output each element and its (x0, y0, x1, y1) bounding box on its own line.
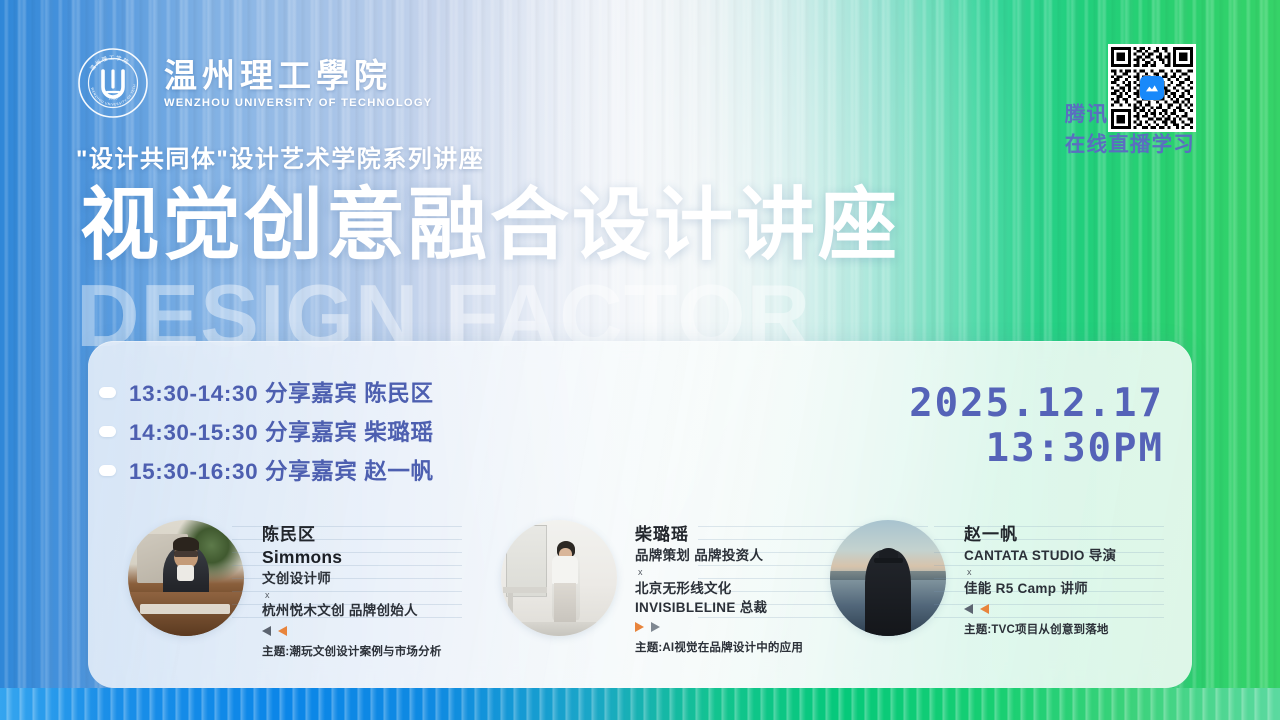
speaker-markers (964, 602, 1179, 616)
university-name-en: WENZHOU UNIVERSITY OF TECHNOLOGY (164, 97, 433, 109)
speaker-connector: x (967, 565, 1179, 579)
pill-bullet-icon (99, 387, 116, 398)
speaker-role: 文创设计师 (262, 569, 472, 589)
speaker-org: 佳能 R5 Camp 讲师 (964, 580, 1179, 599)
tencent-meeting-icon (1140, 76, 1164, 100)
pill-bullet-icon (99, 465, 116, 476)
schedule-row-text: 13:30-14:30 分享嘉宾 陈民区 (129, 376, 434, 408)
list-item[interactable]: 14:30-15:30 分享嘉宾 柴璐瑶 (99, 413, 434, 449)
pill-bullet-icon (99, 426, 116, 437)
university-branding: 1980 温州理工学院 WENZHOU UNIVERSITY OF TECHNO… (76, 46, 433, 120)
speaker-topic: 主题:TVC项目从创意到落地 (964, 621, 1179, 637)
poster-canvas: DESIGN FACTOR 1980 温州理工学院 WENZHOU UNIVER… (0, 0, 1280, 720)
schedule-row-text: 14:30-15:30 分享嘉宾 柴璐瑶 (129, 415, 434, 447)
speaker-topic: 主题:AI视觉在品牌设计中的应用 (635, 639, 870, 655)
event-datetime: 2025.12.17 13:30PM (909, 382, 1164, 472)
list-item[interactable]: 15:30-16:30 分享嘉宾 赵一帆 (99, 452, 434, 488)
speaker-photo-chen (128, 520, 244, 636)
speaker-markers (262, 624, 472, 638)
speaker-name-cn: 赵一帆 (964, 524, 1179, 546)
triangle-left-dark-icon (964, 604, 973, 614)
speaker-topic: 主题:潮玩文创设计案例与市场分析 (262, 643, 472, 659)
triangle-right-orange-icon (635, 622, 644, 632)
qr-code-canvas (1111, 47, 1193, 129)
event-time: 13:30PM (909, 427, 1164, 472)
event-date: 2025.12.17 (909, 382, 1164, 427)
series-subtitle: "设计共同体"设计艺术学院系列讲座 (76, 139, 484, 174)
qr-code-icon[interactable] (1108, 44, 1196, 132)
speaker-photo-zhao (830, 520, 946, 636)
svg-text:温州理工学院: 温州理工学院 (88, 54, 131, 73)
triangle-right-dark-icon (651, 622, 660, 632)
triangle-left-orange-icon (278, 626, 287, 636)
page-title: 视觉创意融合设计讲座 (80, 186, 900, 265)
speaker-org: 杭州悦木文创 品牌创始人 (262, 602, 472, 621)
schedule-list: 13:30-14:30 分享嘉宾 陈民区 14:30-15:30 分享嘉宾 柴璐… (99, 374, 434, 491)
university-name-block: 温州理工學院 WENZHOU UNIVERSITY OF TECHNOLOGY (164, 57, 433, 110)
speaker-card[interactable]: 陈民区 Simmons 文创设计师 x 杭州悦木文创 品牌创始人 主题:潮玩文创… (128, 508, 472, 659)
speaker-connector: x (265, 588, 472, 602)
svg-text:1980: 1980 (108, 97, 118, 101)
bottom-color-band (0, 688, 1280, 720)
bottom-band-stripes (0, 688, 1280, 720)
speaker-list: 陈民区 Simmons 文创设计师 x 杭州悦木文创 品牌创始人 主题:潮玩文创… (88, 508, 1192, 673)
speaker-info: 陈民区 Simmons 文创设计师 x 杭州悦木文创 品牌创始人 主题:潮玩文创… (262, 508, 472, 659)
triangle-left-dark-icon (262, 626, 271, 636)
speaker-name-en: Simmons (262, 546, 472, 569)
speaker-role: CANTATA STUDIO 导演 (964, 546, 1179, 566)
speaker-card[interactable]: 柴璐瑶 品牌策划 品牌投资人 x 北京无形线文化 INVISIBLELINE 总… (501, 508, 870, 655)
list-item[interactable]: 13:30-14:30 分享嘉宾 陈民区 (99, 374, 434, 410)
university-name-cn: 温州理工學院 (164, 57, 433, 96)
schedule-row-text: 15:30-16:30 分享嘉宾 赵一帆 (129, 454, 434, 486)
speaker-card[interactable]: 赵一帆 CANTATA STUDIO 导演 x 佳能 R5 Camp 讲师 主题… (830, 508, 1179, 637)
university-emblem-icon: 1980 温州理工学院 WENZHOU UNIVERSITY OF TECHNO… (76, 46, 150, 120)
svg-text:WENZHOU UNIVERSITY OF TECHNOLO: WENZHOU UNIVERSITY OF TECHNOLOGY (76, 46, 137, 107)
speaker-photo-chai (501, 520, 617, 636)
triangle-left-orange-icon (980, 604, 989, 614)
livestream-line-2: 在线直播学习 (1065, 130, 1195, 160)
speaker-name-cn: 陈民区 (262, 524, 472, 546)
speaker-info: 赵一帆 CANTATA STUDIO 导演 x 佳能 R5 Camp 讲师 主题… (964, 508, 1179, 637)
